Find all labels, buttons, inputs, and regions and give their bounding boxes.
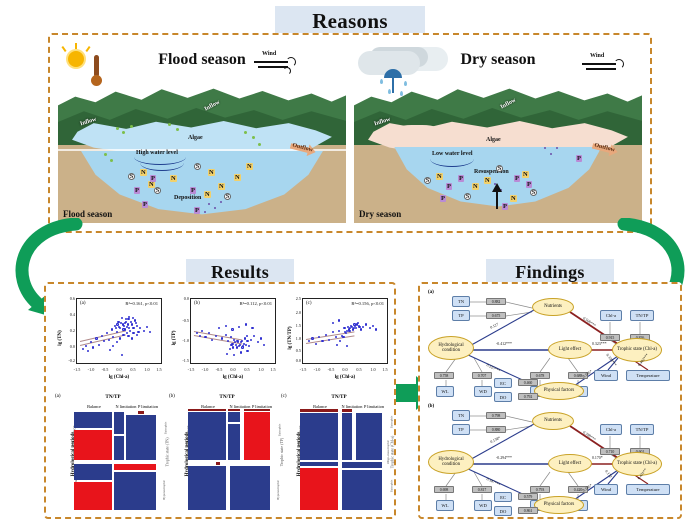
mosaic-b-panel-tag: (b)	[169, 394, 175, 399]
mosaic-tile	[74, 430, 112, 460]
nutrient-token-p: P	[576, 155, 582, 162]
mosaic-tile	[244, 409, 270, 411]
resuspension-label: Resuspension	[474, 169, 509, 175]
scatter-b-panel-tag: (b)	[194, 301, 200, 306]
sem-b-latent-nutrients: Nutrients	[532, 412, 574, 430]
sem-b-indicator-ec: EC	[494, 492, 512, 502]
mosaic-a-col-plim: P limitation	[134, 404, 162, 409]
nutrient-token-p: P	[190, 187, 196, 194]
algae-dot	[244, 131, 247, 134]
scatter-plot-b: lg (TP) (b) R²=0.112, p<0.01	[168, 290, 280, 386]
sem-b-loading-ec: 0.579	[518, 493, 538, 500]
nutrient-token-n: N	[522, 171, 529, 178]
sem-b-indicator-temperature: Temperature	[626, 484, 670, 495]
nutrient-token-p: P	[446, 183, 452, 190]
sem-b-loading-tn: 0.798	[486, 412, 506, 419]
mosaic-tile	[300, 413, 338, 460]
nutrient-token-n: N	[208, 169, 215, 176]
nutrient-token-n: N	[204, 191, 211, 198]
mosaic-c-cat-oligo: Oligo-mesotrophic	[386, 440, 390, 464]
sediment-dot	[220, 201, 222, 203]
sun-ray-icon	[75, 43, 77, 49]
rain-icon	[400, 91, 403, 96]
mosaic-tile	[342, 413, 352, 460]
mosaic-tile	[74, 412, 112, 428]
sediment-dot	[550, 153, 552, 155]
scatter-a-ytick: 0.2	[58, 328, 75, 333]
scatter-c-plot-area: (c) R²=0.156, p<0.01	[302, 298, 388, 364]
sem-a-latent-hydrological: Hydrological condition	[428, 336, 474, 360]
scatter-b-ytick: 0.0	[172, 296, 189, 301]
scatter-a-panel-tag: (a)	[80, 301, 86, 306]
thermometer-bulb-icon	[91, 75, 102, 86]
algae-dot	[168, 123, 171, 126]
scatter-c-xtick: -1.0	[311, 367, 323, 372]
mosaic-plot-a: (a) TN/TP Balance N limitation P limitat…	[54, 392, 166, 516]
mosaic-c-right-axis: Trophic state (Chl-a)	[390, 436, 394, 469]
scatter-b-ytick: -0.5	[172, 318, 189, 323]
mosaic-tile	[74, 482, 112, 510]
results-panel: lg (TN) (a) R²=0.161, p<0.01	[44, 282, 396, 519]
sem-b-indicator-do: DO	[494, 506, 512, 516]
nutrient-token-s: S	[194, 163, 201, 170]
mosaic-a-panel-tag: (a)	[55, 394, 61, 399]
nutrient-token-n: N	[218, 183, 225, 190]
mosaic-plot-c: (c) TN/TP Balance N limitation P limitat…	[280, 392, 392, 516]
mosaic-tile	[300, 409, 338, 412]
rain-icon	[388, 89, 391, 94]
flood-season-illustration: Wind Flood season Inflow Inflow Outflow …	[58, 43, 346, 223]
scatter-a-stat: R²=0.161, p<0.01	[125, 301, 158, 306]
sem-b-indicator-tntp: TN/TP	[630, 424, 654, 435]
nutrient-token-n: N	[140, 169, 147, 176]
mosaic-c-cat-eutrophic: Eutrophic	[390, 416, 394, 429]
nutrient-token-n: N	[246, 163, 253, 170]
sem-a-indicator-temperature: Temperature	[626, 370, 670, 381]
water-level-label: High water level	[136, 150, 178, 156]
scatter-b-plot-area: (b) R²=0.112, p<0.01	[190, 298, 276, 364]
sem-a-indicator-ec: EC	[494, 378, 512, 388]
scatter-c-xlabel: lg (Chl-a)	[302, 375, 388, 380]
sediment-dot	[208, 203, 210, 205]
nutrient-token-n: N	[510, 195, 517, 202]
mosaic-a-title: TN/TP	[74, 394, 152, 400]
scatter-b-xtick: -1.5	[185, 367, 197, 372]
nutrient-token-s: S	[464, 193, 471, 200]
algae-dot	[258, 143, 261, 146]
sem-a-indicator-do: DO	[494, 392, 512, 402]
scatter-b-xtick: -1.0	[199, 367, 211, 372]
sem-a-ec-do-group: EC 0.460 DO 0.792	[422, 370, 542, 404]
mosaic-c-col-plim: P limitation	[360, 404, 388, 409]
umbrella-stick-icon	[392, 77, 394, 93]
mosaic-tile	[188, 412, 226, 460]
sem-b-indicator-tp: TP	[452, 424, 470, 435]
nutrient-token-p: P	[440, 195, 446, 202]
scatter-c-ytick: 1.0	[284, 336, 301, 341]
scatter-c-xtick: -0.5	[325, 367, 337, 372]
scatter-a-xtick: -1.0	[85, 367, 97, 372]
sem-a-latent-nutrients: Nutrients	[532, 298, 574, 316]
nutrient-token-n: N	[436, 173, 443, 180]
rain-icon	[380, 79, 383, 84]
nutrient-token-s: S	[424, 177, 431, 184]
sem-a-indicator-tntp: TN/TP	[630, 310, 654, 321]
sem-b-loading-chla: 0.710	[600, 448, 620, 455]
nutrient-token-n: N	[472, 183, 479, 190]
nutrient-token-s: S	[530, 189, 537, 196]
scatter-c-ytick: 1.5	[284, 323, 301, 328]
reasons-panel: Wind Flood season Inflow Inflow Outflow …	[48, 33, 652, 233]
sem-a-path-light-trophic: 0.323***	[592, 342, 607, 346]
nutrient-token-p: P	[514, 175, 520, 182]
sem-a-indicator-chla: Chl-a	[600, 310, 622, 321]
water-level-label: Low water level	[432, 151, 473, 157]
sem-a-indicator-wind: Wind	[594, 370, 618, 381]
rain-icon	[404, 81, 407, 86]
algae-dot	[122, 131, 125, 134]
mosaic-tile	[342, 462, 382, 468]
mosaic-plot-row: (a) TN/TP Balance N limitation P limitat…	[50, 392, 394, 516]
sem-b-indicator-tn: TN	[452, 410, 470, 421]
nutrient-token-s: S	[128, 173, 135, 180]
scatter-a-xtick: 1.0	[141, 367, 153, 372]
sem-a-loading-do: 0.792	[518, 393, 538, 400]
scatter-c-ytick: 0.0	[284, 358, 301, 363]
dry-season-illustration: Wind Dry season Inflow Inflow Outflow Al…	[354, 43, 642, 223]
sem-a-loading-tp: 0.675	[486, 312, 506, 319]
sem-a-loading-chla: 0.915	[600, 334, 620, 341]
scatter-b-stat: R²=0.112, p<0.01	[240, 301, 272, 306]
mosaic-tile	[244, 412, 270, 460]
mosaic-tile	[228, 412, 240, 422]
nutrient-token-p: P	[150, 175, 156, 182]
scatter-c-ytick: 0.5	[284, 348, 301, 353]
nutrient-token-s: S	[496, 165, 503, 172]
mosaic-tile	[114, 436, 124, 460]
scatter-a-ytick: -0.2	[58, 358, 75, 363]
scatter-a-xtick: -0.5	[99, 367, 111, 372]
sem-a-latent-light: Light effect	[548, 340, 592, 359]
scatter-c-stat: R²=0.156, p<0.01	[351, 301, 384, 306]
nutrient-token-s: S	[224, 193, 231, 200]
mosaic-b-title: TN/TP	[188, 394, 266, 400]
sem-b-path-light-trophic: 0.170*	[592, 456, 603, 460]
mosaic-tile	[114, 412, 124, 434]
sem-b-path-hydro-light: -0.294***	[496, 456, 512, 460]
sem-a-indicator-tp: TP	[452, 310, 470, 321]
scatter-c-panel-tag: (c)	[306, 301, 312, 306]
mosaic-tile	[230, 466, 270, 510]
sem-b-latent-light: Light effect	[548, 454, 592, 473]
mosaic-tile	[138, 411, 144, 414]
sem-a-latent-trophic: Trophic state (Chl-a)	[612, 338, 662, 362]
nutrient-token-p: P	[458, 175, 464, 182]
deposition-label: Deposition	[174, 195, 201, 201]
nutrient-token-n: N	[234, 174, 241, 181]
algae-label: Algae	[188, 135, 203, 141]
scatter-b-ytick: -1.5	[172, 358, 189, 363]
mosaic-tile	[114, 472, 156, 510]
scatter-plot-c: lg (TN/TP) (c) R²=0.156, p<0.01	[280, 290, 392, 386]
mosaic-tile	[188, 409, 226, 411]
mosaic-tile	[114, 464, 156, 470]
scatter-a-ytick: 0.0	[58, 344, 75, 349]
sem-a-loading-tn: 0.882	[486, 298, 506, 305]
algae-dot	[110, 159, 113, 162]
scatter-c-xtick: 0.5	[353, 367, 365, 372]
scatter-a-xtick: 0.0	[113, 367, 125, 372]
mosaic-tile	[356, 413, 382, 460]
scatter-b-xtick: 0.5	[241, 367, 253, 372]
mosaic-tile	[228, 409, 240, 411]
sediment-dot	[214, 207, 216, 209]
scatter-b-xlabel: lg (Chl-a)	[190, 375, 276, 380]
mosaic-tile	[188, 466, 226, 510]
findings-panel: (a) TN	[418, 282, 682, 519]
scatter-a-xtick: 0.5	[127, 367, 139, 372]
scatter-b-xtick: 0.0	[227, 367, 239, 372]
scatter-plot-a: lg (TN) (a) R²=0.161, p<0.01	[54, 290, 166, 386]
section-banner-reasons: Reasons	[275, 6, 425, 36]
sem-b-latent-trophic: Trophic state (Chl-a)	[612, 452, 662, 476]
sem-b-loading-do: 0.861	[518, 507, 538, 514]
sand-patch	[390, 125, 444, 147]
algae-dot	[176, 128, 179, 131]
scatter-c-ytick: 2.0	[284, 310, 301, 315]
scatter-plot-row: lg (TN) (a) R²=0.161, p<0.01	[50, 288, 394, 388]
nutrient-token-s: S	[154, 187, 161, 194]
algae-label: Algae	[486, 137, 501, 143]
algae-dot	[130, 125, 133, 128]
mosaic-tile	[300, 462, 338, 466]
flood-season-title: Flood season	[58, 51, 346, 69]
mosaic-a-cat-hypereutrophic: Hypereutrophic	[162, 480, 166, 500]
mosaic-tile	[342, 409, 352, 412]
sem-b-loading-tp: 0.880	[486, 426, 506, 433]
mosaic-plot-b: (b) TN/TP Balance N limitation P limitat…	[168, 392, 280, 516]
scatter-a-xtick: -1.5	[71, 367, 83, 372]
nutrient-token-p: P	[194, 207, 200, 214]
sediment-dot	[544, 147, 546, 149]
mosaic-c-cat-eutrophic-2: Eutrophic	[390, 480, 394, 493]
scatter-c-xtick: -1.5	[297, 367, 309, 372]
algae-dot	[104, 153, 107, 156]
scatter-a-xtick: 1.5	[153, 367, 165, 372]
nutrient-token-p: P	[142, 201, 148, 208]
dry-season-title: Dry season	[354, 51, 642, 69]
scatter-c-xtick: 1.5	[379, 367, 391, 372]
scatter-a-xlabel: lg (Chl-a)	[76, 375, 162, 380]
mosaic-tile	[126, 415, 156, 460]
sediment-dot	[556, 147, 558, 149]
sem-b-indicator-wind: Wind	[594, 484, 618, 495]
sem-a-path-hydro-light: -0.412***	[496, 342, 512, 346]
resuspension-arrow-icon	[490, 183, 504, 209]
mosaic-tile	[74, 464, 112, 480]
scatter-c-xtick: 0.0	[339, 367, 351, 372]
sem-b-latent-hydrological: Hydrological condition	[428, 450, 474, 474]
scatter-b-xtick: 1.5	[267, 367, 279, 372]
dry-season-corner-label: Dry season	[359, 209, 401, 219]
mosaic-tile	[342, 470, 382, 510]
sem-b-ec-do-group: EC 0.579 DO 0.861	[422, 484, 542, 518]
nutrient-token-n: N	[170, 175, 177, 182]
nutrient-token-p: P	[526, 181, 532, 188]
algae-dot	[116, 127, 119, 130]
sem-a-indicator-tn: TN	[452, 296, 470, 307]
scatter-b-xtick: -0.5	[213, 367, 225, 372]
scatter-b-xtick: 1.0	[255, 367, 267, 372]
sediment-dot	[204, 211, 206, 213]
algae-dot	[252, 136, 255, 139]
sem-a-loading-ec: 0.460	[518, 379, 538, 386]
scatter-a-plot-area: (a) R²=0.161, p<0.01	[76, 298, 162, 364]
mosaic-tile	[300, 468, 338, 510]
mosaic-tile	[216, 462, 220, 465]
sem-b-indicator-chla: Chl-a	[600, 424, 622, 435]
mosaic-a-col-balance: Balance	[74, 404, 114, 409]
mosaic-c-title: TN/TP	[300, 394, 378, 400]
nutrient-token-p: P	[134, 187, 140, 194]
scatter-a-ytick: 0.6	[58, 296, 75, 301]
scatter-c-xtick: 1.0	[367, 367, 379, 372]
mosaic-tile	[228, 424, 240, 460]
mosaic-c-panel-tag: (c)	[281, 394, 287, 399]
scatter-c-ytick: 2.5	[284, 296, 301, 301]
scatter-a-ytick: 0.4	[58, 312, 75, 317]
scatter-b-ytick: -1.0	[172, 338, 189, 343]
